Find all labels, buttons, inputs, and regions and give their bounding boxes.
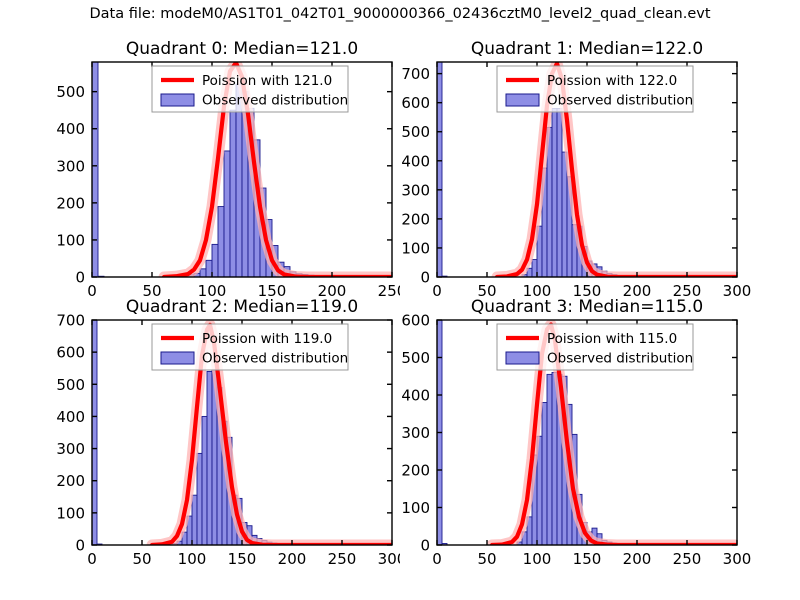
quadrant-3-title: Quadrant 3: Median=115.0 [471,297,703,317]
y-tick-label: 700 [56,312,85,330]
histogram-bar [92,320,97,545]
y-tick-label: 400 [401,152,430,170]
subplot-quadrant-1: Quadrant 1: Median=122.00501001502002503… [400,28,800,300]
y-tick-label: 200 [56,194,85,212]
histogram-bar [236,84,242,277]
y-tick-label: 300 [56,440,85,458]
histogram-bar [197,453,202,545]
y-tick-label: 300 [401,424,430,442]
subplot-quadrant-3: Quadrant 3: Median=115.00501001502002503… [400,285,800,565]
quadrant-0-svg: Quadrant 0: Median=121.00501001502002500… [0,28,400,300]
x-tick-label: 250 [673,550,702,565]
y-tick-label: 200 [401,210,430,228]
y-tick-label: 100 [56,504,85,522]
y-tick-label: 500 [401,123,430,141]
x-tick-label: 100 [178,550,207,565]
histogram-bar [552,373,557,546]
legend-label-poisson: Poission with 115.0 [547,331,677,347]
histogram-bar [557,108,562,277]
legend-label-observed: Observed distribution [547,93,693,109]
y-tick-label: 300 [56,157,85,175]
y-tick-label: 200 [56,472,85,490]
histogram-bar [206,260,212,277]
histogram-bar [552,108,557,277]
quadrant-2-legend[interactable]: Poission with 119.0Observed distribution [152,324,348,370]
legend-bar-swatch [161,352,194,364]
histogram-bar [212,244,218,277]
y-tick-label: 200 [401,462,430,480]
legend-label-poisson: Poission with 122.0 [547,73,677,89]
y-tick-label: 400 [401,387,430,405]
quadrant-2-svg: Quadrant 2: Median=119.00501001502002503… [0,285,400,565]
y-tick-label: 0 [420,537,430,555]
x-tick-label: 300 [378,550,400,565]
quadrant-3-legend[interactable]: Poission with 115.0Observed distribution [497,324,693,370]
histogram-bar [202,416,207,545]
histogram-bar [207,371,212,545]
legend-label-observed: Observed distribution [202,351,348,367]
x-tick-label: 300 [723,550,752,565]
quadrant-1-legend[interactable]: Poission with 122.0Observed distribution [497,66,693,112]
x-tick-label: 0 [87,550,97,565]
x-tick-label: 200 [278,550,307,565]
histogram-bar [218,207,224,277]
y-tick-label: 500 [56,376,85,394]
histogram-bar [437,62,442,277]
histogram-bar [547,374,552,545]
y-tick-label: 100 [401,499,430,517]
legend-label-poisson: Poission with 121.0 [202,73,332,89]
quadrant-1-title: Quadrant 1: Median=122.0 [471,39,703,59]
y-tick-label: 500 [401,349,430,367]
y-tick-label: 500 [56,83,85,101]
y-tick-label: 400 [56,120,85,138]
quadrant-1-svg: Quadrant 1: Median=122.00501001502002503… [400,28,800,300]
histogram-bar [532,260,537,277]
x-tick-label: 150 [228,550,257,565]
legend-label-poisson: Poission with 119.0 [202,331,332,347]
y-tick-label: 600 [401,312,430,330]
legend-bar-swatch [506,94,539,106]
x-tick-label: 50 [132,550,151,565]
legend-bar-swatch [161,94,194,106]
legend-label-observed: Observed distribution [202,93,348,109]
x-tick-label: 200 [623,550,652,565]
y-tick-label: 400 [56,408,85,426]
histogram-bar [92,62,98,277]
y-tick-label: 600 [56,344,85,362]
legend-label-observed: Observed distribution [547,351,693,367]
x-tick-label: 100 [523,550,552,565]
histogram-bar [192,495,197,545]
subplot-quadrant-0: Quadrant 0: Median=121.00501001502002500… [0,28,400,300]
figure-suptitle: Data file: modeM0/AS1T01_042T01_90000003… [0,6,800,22]
y-tick-label: 100 [401,239,430,257]
y-tick-label: 0 [75,537,85,555]
y-tick-label: 600 [401,94,430,112]
y-tick-label: 700 [401,65,430,83]
x-tick-label: 0 [432,550,442,565]
subplot-quadrant-2: Quadrant 2: Median=119.00501001502002503… [0,285,400,565]
histogram-bar [542,403,547,546]
legend-bar-swatch [506,352,539,364]
x-tick-label: 250 [328,550,357,565]
figure-canvas: Data file: modeM0/AS1T01_042T01_90000003… [0,0,800,600]
y-tick-label: 300 [401,181,430,199]
histogram-bar [562,152,567,277]
y-tick-label: 0 [420,269,430,287]
quadrant-0-legend[interactable]: Poission with 121.0Observed distribution [152,66,348,112]
histogram-bar [224,151,230,277]
y-tick-label: 100 [56,231,85,249]
quadrant-2-title: Quadrant 2: Median=119.0 [126,297,358,317]
x-tick-label: 150 [573,550,602,565]
quadrant-0-title: Quadrant 0: Median=121.0 [126,39,358,59]
histogram-bar [230,110,236,277]
quadrant-3-svg: Quadrant 3: Median=115.00501001502002503… [400,285,800,565]
histogram-bar [200,269,206,277]
y-tick-label: 0 [75,269,85,287]
x-tick-label: 50 [477,550,496,565]
